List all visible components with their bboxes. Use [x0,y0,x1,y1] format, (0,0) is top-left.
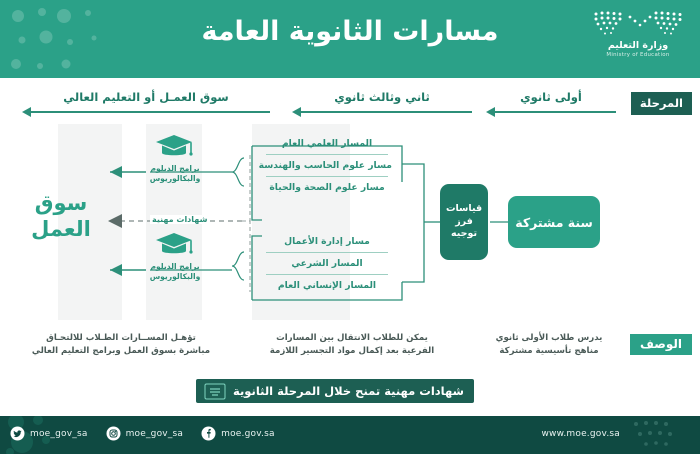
professional-certificates-label: شهادات مهنية [150,215,209,224]
professional-certificates-banner: شهادات مهنية تمنح خلال المرحلة الثانوية [196,379,474,403]
arrow-head-icon [110,264,122,276]
track-divider [266,252,388,253]
stage-badge: المرحلة [631,92,692,115]
arrow-line [300,111,472,113]
graduation-cap-icon [154,230,194,258]
arrow-line [30,111,270,113]
description-line: مناهج تأسيسية مشتركة [474,345,624,358]
stage-label: ثاني وثالث ثانوي [292,90,472,104]
diploma-label-line-2: والبكالوريوس [144,272,206,282]
description-badge: الوصف [630,334,692,355]
description-line: يمكن للطلاب الانتقال بين المسارات [244,332,460,345]
graduation-cap-icon [154,132,194,160]
dotted-map-logo-icon [590,8,686,38]
measurement-line-3: توجيه [451,228,477,241]
diagram: سنة مشتركة قياسات فرز توجيه المسار العلم… [0,124,700,320]
track-item-computer-engineering[interactable]: مسار علوم الحاسب والهندسة [262,160,392,171]
labor-market-line-2: العمل [18,216,104,242]
labor-market-line-1: سوق [18,190,104,216]
description-item-first-year: يدرس طلاب الأولى ثانوي مناهج تأسيسية مشت… [474,332,624,358]
footer: moe.gov.sa moe_gov_sa moe_gov_sa ww [0,416,700,454]
stage-item-second-third-year: ثاني وثالث ثانوي [292,90,472,124]
instagram-icon [106,426,121,441]
description-line: الفرعية بعد إكمال مواد التجسير اللازمة [244,345,460,358]
stage-item-labor-market: سوق العمـل أو التعليم العالي [22,90,270,124]
certificate-icon [204,383,226,400]
diploma-label-line-1: برامج الدبلوم [144,262,206,272]
measurement-line-2: فرز [455,216,473,229]
header: مسارات الثانوية العامة و [0,0,700,78]
stage-arrow [292,107,472,117]
arrow-head-icon [108,214,122,228]
description-item-qualification: تؤهـل المســارات الطـلاب للالتحـاق مباشر… [10,332,232,358]
facebook-icon [201,426,216,441]
stage-label: أولى ثانوي [486,90,616,104]
stage-row: المرحلة أولى ثانوي ثاني وثالث ثانوي سوق … [0,90,700,126]
diploma-label-upper: برامج الدبلوم والبكالوريوس [144,164,206,185]
arrow-head-icon [110,166,122,178]
footer-dots-decoration-right [626,418,696,452]
description-item-tracks: يمكن للطلاب الانتقال بين المسارات الفرعي… [244,332,460,358]
description-line: يدرس طلاب الأولى ثانوي [474,332,624,345]
social-link-facebook[interactable]: moe.gov.sa [201,426,275,441]
stage-item-first-year: أولى ثانوي [486,90,616,124]
logo-english-text: Ministry of Education [586,52,690,58]
description-row: الوصف يدرس طلاب الأولى ثانوي مناهج تأسيس… [0,328,700,368]
logo-arabic-text: وزارة التعليم [586,40,690,51]
diploma-label-line-1: برامج الدبلوم [144,164,206,174]
track-divider [266,274,388,275]
measurement-line-1: قياسات [446,203,482,216]
measurement-box[interactable]: قياسات فرز توجيه [440,184,488,260]
social-handle: moe.gov.sa [221,429,275,439]
description-line: تؤهـل المســارات الطـلاب للالتحـاق [10,332,232,345]
ministry-logo: وزارة التعليم Ministry of Education [586,8,690,58]
stage-arrow [486,107,616,117]
track-item-health-life-science[interactable]: مسار علوم الصحة والحياة [262,182,392,193]
website-url[interactable]: www.moe.gov.sa [541,429,620,439]
shared-year-box[interactable]: سنة مشتركة [508,196,600,248]
track-item-general-science[interactable]: المسار العلمي العام [262,138,392,149]
social-link-twitter[interactable]: moe_gov_sa [10,426,88,441]
labor-market-label: سوق العمل [18,190,104,243]
shared-year-label: سنة مشتركة [515,215,593,230]
description-line: مباشرة بسوق العمل وبرامج التعليم العالي [10,345,232,358]
track-divider [266,154,388,155]
banner-text: شهادات مهنية تمنح خلال المرحلة الثانوية [233,384,464,398]
diploma-label-line-2: والبكالوريوس [144,174,206,184]
track-item-sharia[interactable]: المسار الشرعي [262,258,392,269]
track-divider [266,176,388,177]
twitter-icon [10,426,25,441]
stage-arrow [22,107,270,117]
social-handle: moe_gov_sa [30,429,88,439]
track-item-business-administration[interactable]: مسار إدارة الأعمال [262,236,392,247]
infographic-page: مسارات الثانوية العامة و [0,0,700,454]
social-links: moe.gov.sa moe_gov_sa moe_gov_sa [10,426,275,441]
social-link-instagram[interactable]: moe_gov_sa [106,426,184,441]
arrow-line [494,111,616,113]
stage-label: سوق العمـل أو التعليم العالي [22,90,270,104]
track-item-general-humanities[interactable]: المسار الإنساني العام [262,280,392,291]
diploma-label-lower: برامج الدبلوم والبكالوريوس [144,262,206,283]
social-handle: moe_gov_sa [126,429,184,439]
